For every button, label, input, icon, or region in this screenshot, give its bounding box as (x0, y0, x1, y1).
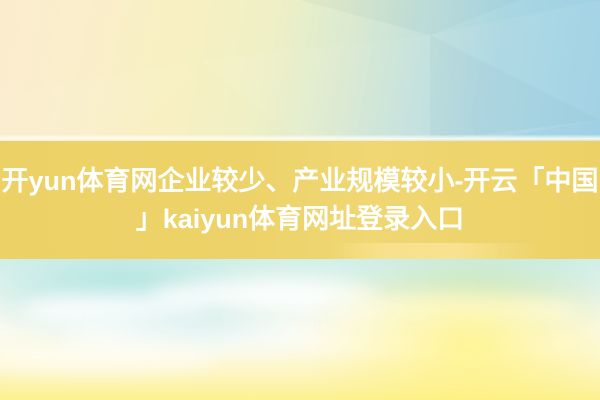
warm-glow-bottom-right (300, 259, 600, 400)
headline-text: 开yun体育网企业较少、产业规模较小-开云「中国 」kaiyun体育网址登录入口 (0, 141, 600, 259)
promo-banner: 开yun体育网企业较少、产业规模较小-开云「中国 」kaiyun体育网址登录入口 (0, 0, 600, 400)
polygon-facets (0, 0, 600, 141)
bottom-gradient-panel (0, 259, 600, 400)
cloud-wisp-6 (0, 347, 220, 373)
headline-line-1: 开yun体育网企业较少、产业规模较小-开云「中国 (2, 162, 599, 200)
headline-line-2: 」kaiyun体育网址登录入口 (136, 200, 465, 238)
top-gradient-panel (0, 0, 600, 141)
teal-wisp-mid (90, 313, 320, 339)
